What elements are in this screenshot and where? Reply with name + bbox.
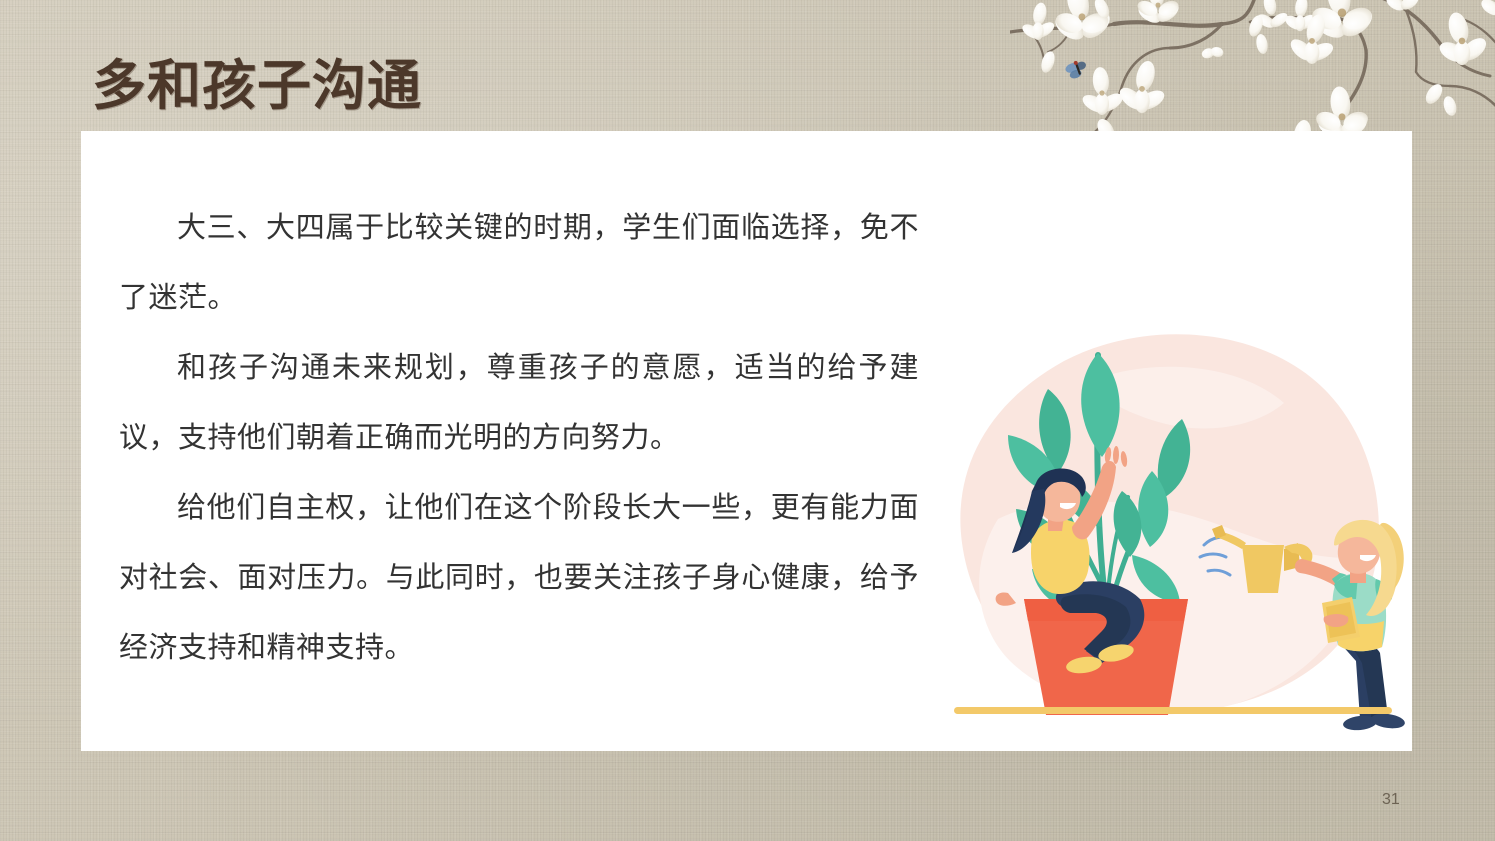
body-text-block: 大三、大四属于比较关键的时期，学生们面临选择，免不了迷茫。 和孩子沟通未来规划，… xyxy=(119,193,919,683)
blue-butterfly-icon xyxy=(1064,58,1089,81)
paragraph-1: 大三、大四属于比较关键的时期，学生们面临选择，免不了迷茫。 xyxy=(119,193,919,333)
paragraph-3: 给他们自主权，让他们在这个阶段长大一些，更有能力面对社会、面对压力。与此同时，也… xyxy=(119,473,919,683)
ground-line xyxy=(954,707,1392,714)
page-title: 多和孩子沟通 xyxy=(92,55,422,117)
page-number: 31 xyxy=(1382,791,1400,809)
two-women-growing-plant-illustration xyxy=(936,331,1406,741)
content-card: 大三、大四属于比较关键的时期，学生们面临选择，免不了迷茫。 和孩子沟通未来规划，… xyxy=(81,131,1412,751)
paragraph-2: 和孩子沟通未来规划，尊重孩子的意愿，适当的给予建议，支持他们朝着正确而光明的方向… xyxy=(119,333,919,473)
slide-canvas: 多和孩子沟通 大三、大四属于比较关键的时期，学生们面临选择，免不了迷茫。 和孩子… xyxy=(0,0,1495,841)
